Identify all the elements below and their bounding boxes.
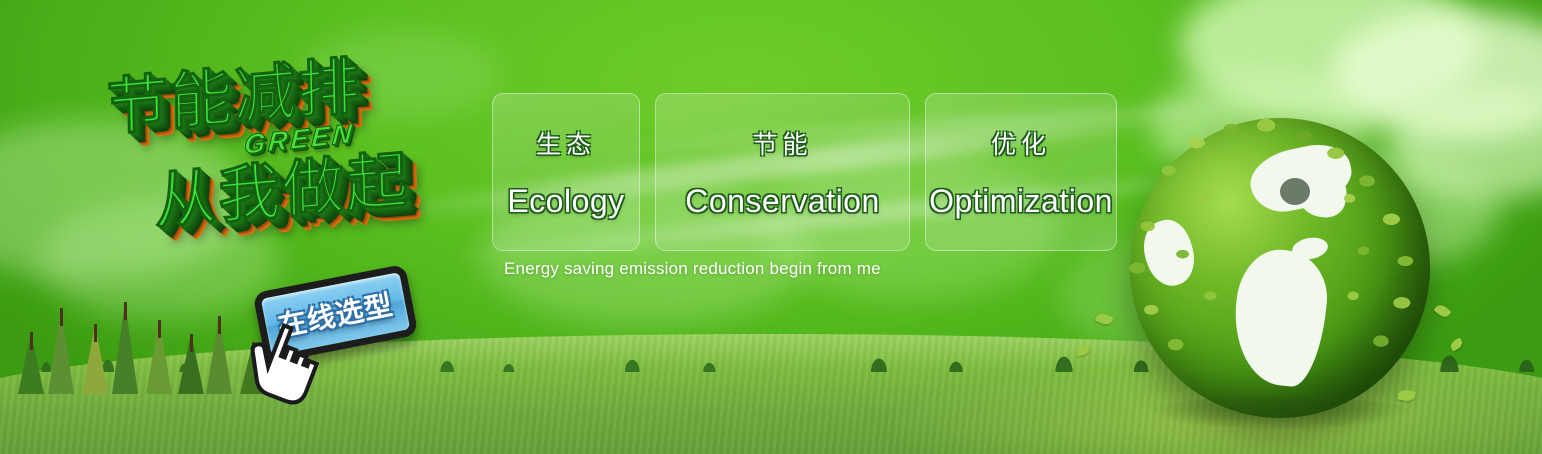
continent-shape xyxy=(1280,178,1310,205)
hand-pointer-icon xyxy=(230,312,328,410)
card-title-en: Ecology xyxy=(507,183,624,220)
globe-sphere xyxy=(1130,118,1430,418)
feature-card-ecology[interactable]: 生态 Ecology xyxy=(492,93,640,251)
card-title-cn: 优化 xyxy=(991,125,1051,161)
continent-shape xyxy=(1228,246,1332,390)
banner-tagline: Energy saving emission reduction begin f… xyxy=(504,259,881,279)
continent-shape xyxy=(1136,214,1202,292)
floating-leaf xyxy=(1397,388,1416,402)
feature-card-optimization[interactable]: 优化 Optimization xyxy=(925,93,1117,251)
globe-shadow xyxy=(1148,396,1412,430)
card-title-cn: 生态 xyxy=(536,125,596,161)
cloud-shape xyxy=(1180,0,1480,120)
floating-leaf xyxy=(1434,302,1452,319)
eco-hero-banner: 节能减排 GREEN 从我做起 在线选型 生态 Ec xyxy=(0,0,1542,454)
card-title-cn: 节能 xyxy=(752,125,812,161)
headline-3d-artwork: 节能减排 GREEN 从我做起 xyxy=(96,36,496,266)
leafy-earth-globe-icon xyxy=(1130,118,1430,418)
headline-line-2: 从我做起 xyxy=(154,129,411,242)
feature-card-conservation[interactable]: 节能 Conservation xyxy=(655,93,910,251)
feature-card-group: 生态 Ecology 节能 Conservation 优化 Optimizati… xyxy=(492,93,1117,251)
floating-leaf xyxy=(1095,311,1114,327)
card-title-en: Conservation xyxy=(685,183,880,220)
card-title-en: Optimization xyxy=(929,183,1113,220)
